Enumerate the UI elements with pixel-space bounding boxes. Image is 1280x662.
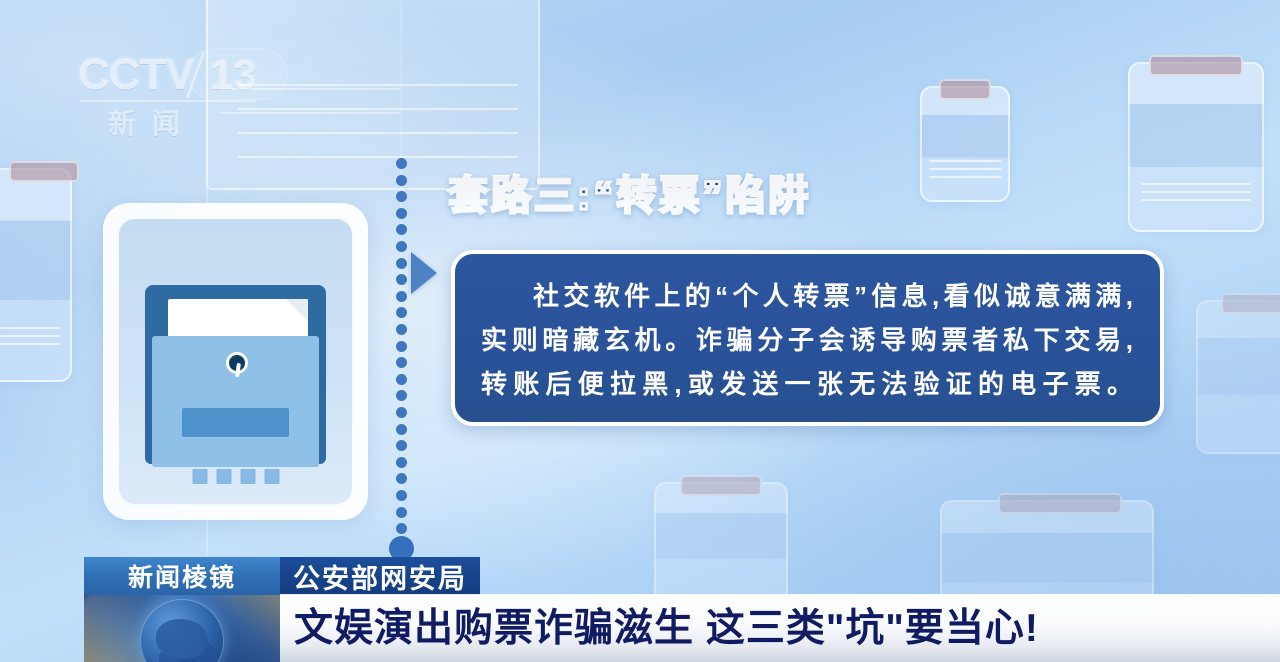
connector-dot	[396, 341, 407, 352]
logo-subtitle: 新闻	[108, 102, 196, 142]
headline-text: 文娱演出购票诈骗滋生 这三类"坑"要当心!	[280, 609, 1039, 648]
connector-dot	[396, 307, 407, 318]
section-heading: 套路三:“转票”陷阱	[448, 176, 811, 216]
clipboard-clip-bar	[680, 475, 762, 496]
connector-dot	[396, 241, 407, 252]
connector-dot	[396, 457, 407, 468]
connector-dot	[396, 324, 407, 335]
background-clipboard	[1128, 62, 1264, 232]
connector-dot	[396, 473, 407, 484]
chyron-source-label: 公安部网安局	[280, 557, 480, 595]
connector-dot	[396, 507, 407, 518]
clipboard-clip-bar	[1149, 55, 1243, 76]
keyhole-icon	[226, 352, 246, 378]
connector-dot	[396, 390, 407, 401]
connector-dot	[396, 191, 407, 202]
chyron-label-row: 新闻棱镜 公安部网安局	[84, 557, 480, 595]
panel-line: 转账后便拉黑,或发送一张无法验证的电子票。	[481, 362, 1134, 406]
clipboard-clip-bar	[939, 79, 991, 100]
connector-dot	[396, 258, 407, 269]
connector-dot	[396, 424, 407, 435]
dotted-connector-line	[396, 158, 409, 540]
pocket-band	[182, 408, 289, 437]
chyron-globe-graphic	[84, 595, 280, 662]
clipboard-clip-bar	[998, 493, 1122, 514]
clipboard-clip-bar	[9, 161, 79, 182]
explanation-panel: 社交软件上的“个人转票”信息,看似诚意满满, 实则暗藏玄机。诈骗分子会诱导购票者…	[451, 250, 1164, 426]
background-clipboard	[920, 86, 1010, 202]
background-clipboard	[0, 168, 72, 382]
connector-dot	[396, 357, 407, 368]
background-clipboard	[1196, 300, 1280, 454]
connector-dot	[396, 523, 407, 534]
logo-channel-number: 13	[210, 51, 257, 99]
connector-dot	[396, 490, 407, 501]
background-clipboard	[654, 482, 788, 606]
perforation-squares	[192, 469, 279, 484]
chyron-program-label: 新闻棱镜	[84, 557, 280, 595]
connector-dot	[396, 274, 407, 285]
connector-dot	[396, 440, 407, 451]
connector-dot	[396, 224, 407, 235]
connector-dot	[396, 407, 407, 418]
pointer-arrow-icon	[411, 252, 437, 294]
connector-dot	[396, 291, 407, 302]
clipboard-lines	[1141, 183, 1252, 207]
clipboard-clip-bar	[1221, 293, 1280, 314]
logo-cctv-text: CCTV	[78, 50, 194, 100]
illustration-inner-panel	[117, 217, 354, 506]
panel-line: 实则暗藏玄机。诈骗分子会诱导购票者私下交易,	[481, 318, 1134, 362]
clipboard-lines	[929, 160, 1001, 184]
broadcast-frame: CCTV 13 新闻 套路三:“转票”陷阱	[0, 0, 1280, 662]
connector-dot	[396, 208, 407, 219]
connector-dot	[396, 175, 407, 186]
cctv13-logo: CCTV 13 新闻	[78, 48, 288, 142]
connector-dot	[396, 374, 407, 385]
illustration-card	[103, 203, 368, 520]
headline-bar: 文娱演出购票诈骗滋生 这三类"坑"要当心!	[280, 595, 1280, 662]
connector-dot	[396, 158, 407, 169]
panel-line: 社交软件上的“个人转票”信息,看似诚意满满,	[481, 274, 1134, 318]
clipboard-lines	[0, 327, 60, 351]
paper-fold-corner	[286, 299, 308, 321]
